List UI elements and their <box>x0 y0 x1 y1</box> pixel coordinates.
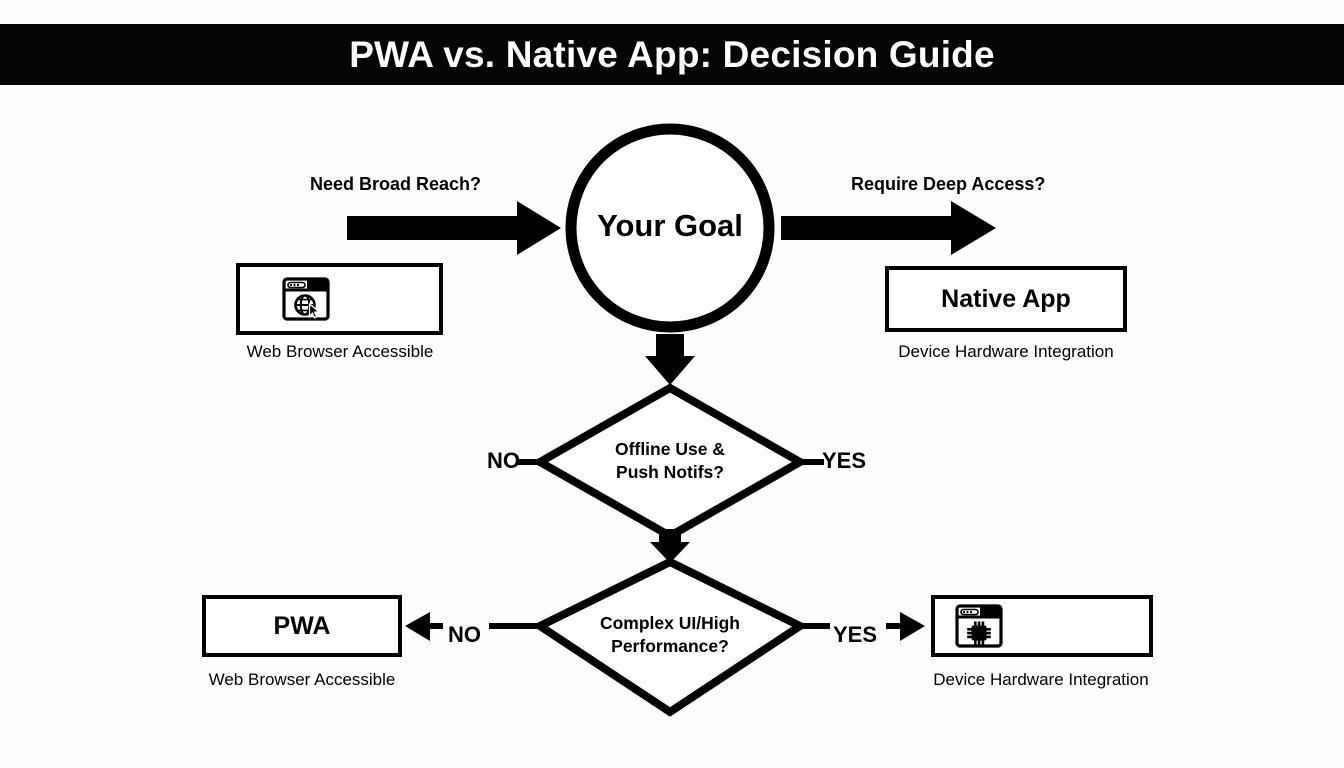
decision-2-no-label: NO <box>448 622 481 648</box>
branch-question-left: Need Broad Reach? <box>310 174 481 195</box>
decision-2-label: Complex UI/High Performance? <box>560 612 780 659</box>
decision-1-yes-label: YES <box>822 448 866 474</box>
decision-1-line-2: Push Notifs? <box>560 461 780 484</box>
caption-device-hardware-integration-top: Device Hardware Integration <box>881 342 1131 362</box>
decision-2-line-2: Performance? <box>560 635 780 658</box>
outcome-box-native-app[interactable]: Native App <box>885 266 1127 332</box>
decision-2-line-1: Complex UI/High <box>560 612 780 635</box>
title-bar: PWA vs. Native App: Decision Guide <box>0 24 1344 85</box>
goal-label: Your Goal <box>565 208 775 244</box>
decision-2-yes-label: YES <box>833 622 877 648</box>
page-title: PWA vs. Native App: Decision Guide <box>349 34 995 76</box>
terminal-box-device-hardware[interactable] <box>931 595 1153 657</box>
caption-device-hardware-integration-bottom: Device Hardware Integration <box>916 670 1166 690</box>
decision-1-line-1: Offline Use & <box>560 438 780 461</box>
diagram-canvas: PWA vs. Native App: Decision Guide Need … <box>0 0 1344 768</box>
terminal-box-pwa[interactable]: PWA <box>202 595 402 657</box>
browser-globe-icon <box>282 277 330 321</box>
outcome-box-native-app-title: Native App <box>941 285 1071 314</box>
decision-1-label: Offline Use & Push Notifs? <box>560 438 780 485</box>
branch-question-right: Require Deep Access? <box>851 174 1045 195</box>
outcome-box-web-browser[interactable] <box>236 263 443 335</box>
caption-web-browser-accessible-top: Web Browser Accessible <box>205 342 475 362</box>
terminal-box-pwa-title: PWA <box>274 612 331 641</box>
arrow-goal-to-decision-1 <box>645 334 695 385</box>
arrow-left-branch <box>347 201 561 255</box>
decision-1-no-label: NO <box>487 448 520 474</box>
arrow-right-branch <box>781 201 996 255</box>
caption-web-browser-accessible-bottom: Web Browser Accessible <box>167 670 437 690</box>
browser-chip-icon <box>955 604 1003 648</box>
